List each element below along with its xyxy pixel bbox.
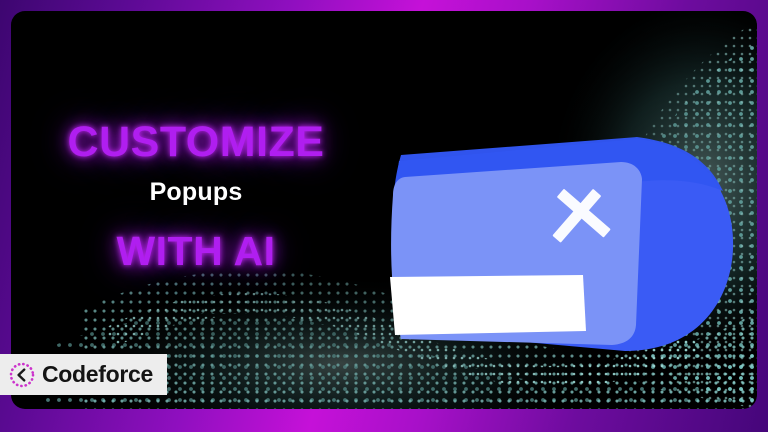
popup-field-bar: [390, 275, 586, 335]
popup-dialog-svg: [387, 99, 737, 359]
headline-line-3: WITH AI: [11, 231, 381, 272]
chevron-left-circle-svg: [9, 362, 35, 388]
popup-dialog-illustration: [387, 99, 737, 359]
thumbnail-stage: CUSTOMIZE Popups WITH AI: [11, 11, 757, 409]
chevron-left-circle-icon: [9, 362, 35, 388]
brand-badge[interactable]: Codeforce: [0, 354, 167, 395]
headline-line-2: Popups: [11, 180, 381, 205]
youtube-thumbnail: CUSTOMIZE Popups WITH AI Codeforce: [0, 0, 768, 432]
brand-name-label: Codeforce: [42, 363, 153, 386]
headline-line-1: CUSTOMIZE: [11, 121, 381, 164]
headline-group: CUSTOMIZE Popups WITH AI: [11, 121, 381, 272]
